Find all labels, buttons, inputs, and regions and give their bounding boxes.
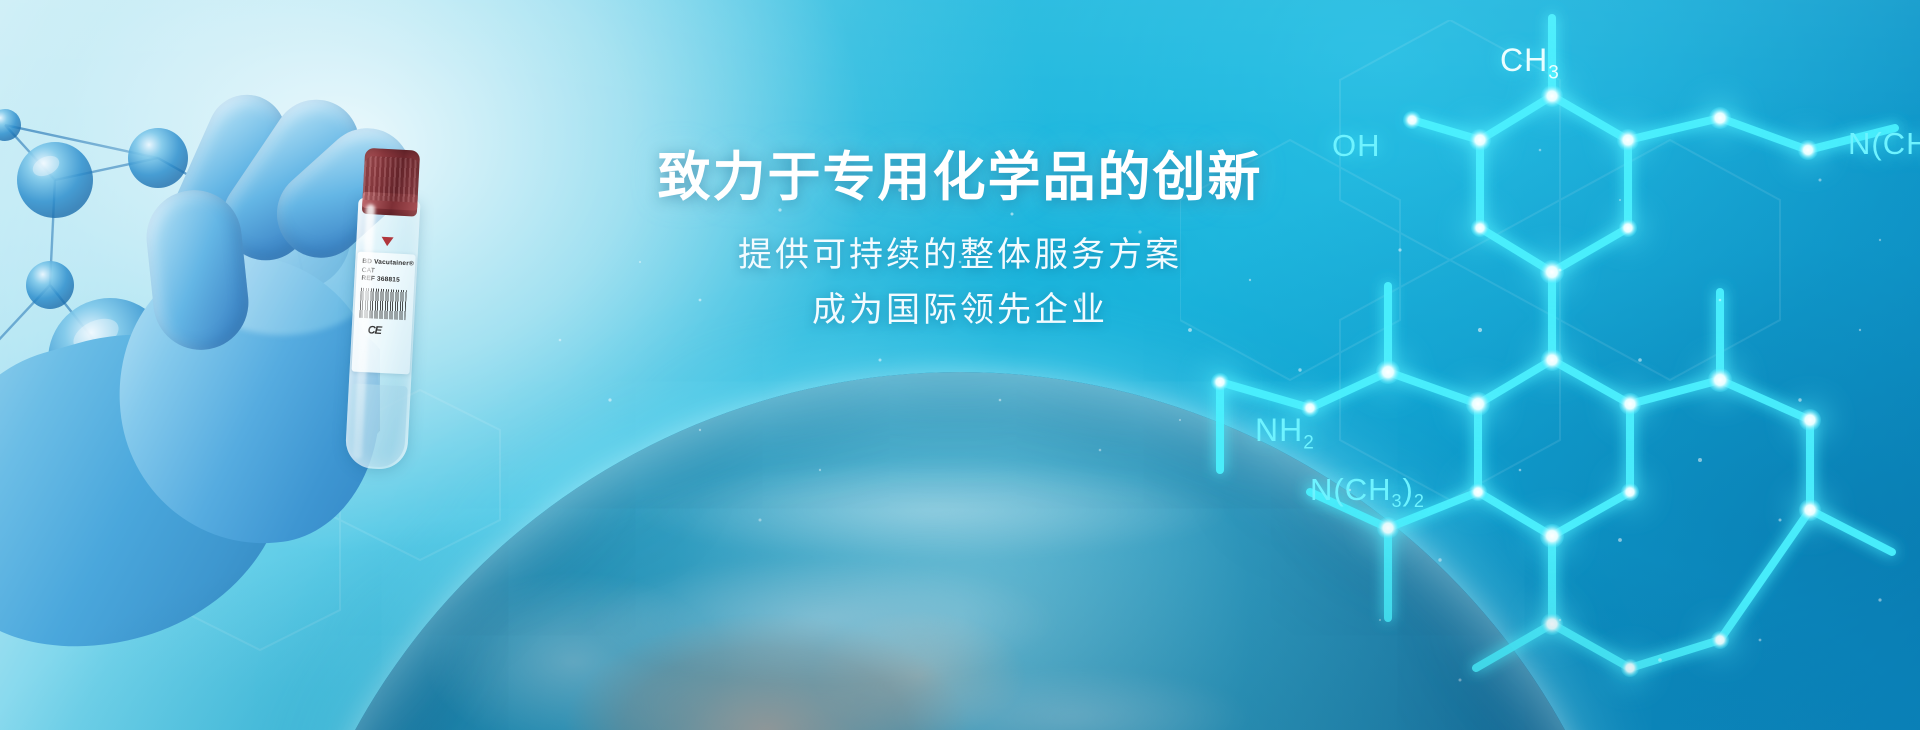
gloved-hand-icon: BD Vacutainer® CAT REF 368815 CE bbox=[0, 40, 470, 730]
hero-banner: BD Vacutainer® CAT REF 368815 CE bbox=[0, 0, 1920, 730]
chem-label-ch3: CH3 bbox=[1500, 42, 1560, 84]
subtitle-line-1: 提供可持续的整体服务方案 bbox=[0, 228, 1920, 283]
chemical-structure-diagram: CH3 OH N(CH3 NH2 N(CH3)2 bbox=[1160, 0, 1920, 730]
banner-copy: 致力于专用化学品的创新 提供可持续的整体服务方案 成为国际领先企业 bbox=[0, 150, 1920, 338]
subtitle-line-2: 成为国际领先企业 bbox=[0, 283, 1920, 338]
chem-label-nch3-bottom: N(CH3)2 bbox=[1310, 472, 1425, 512]
chem-label-nh2: NH2 bbox=[1255, 412, 1315, 454]
page-title: 致力于专用化学品的创新 bbox=[0, 150, 1920, 206]
